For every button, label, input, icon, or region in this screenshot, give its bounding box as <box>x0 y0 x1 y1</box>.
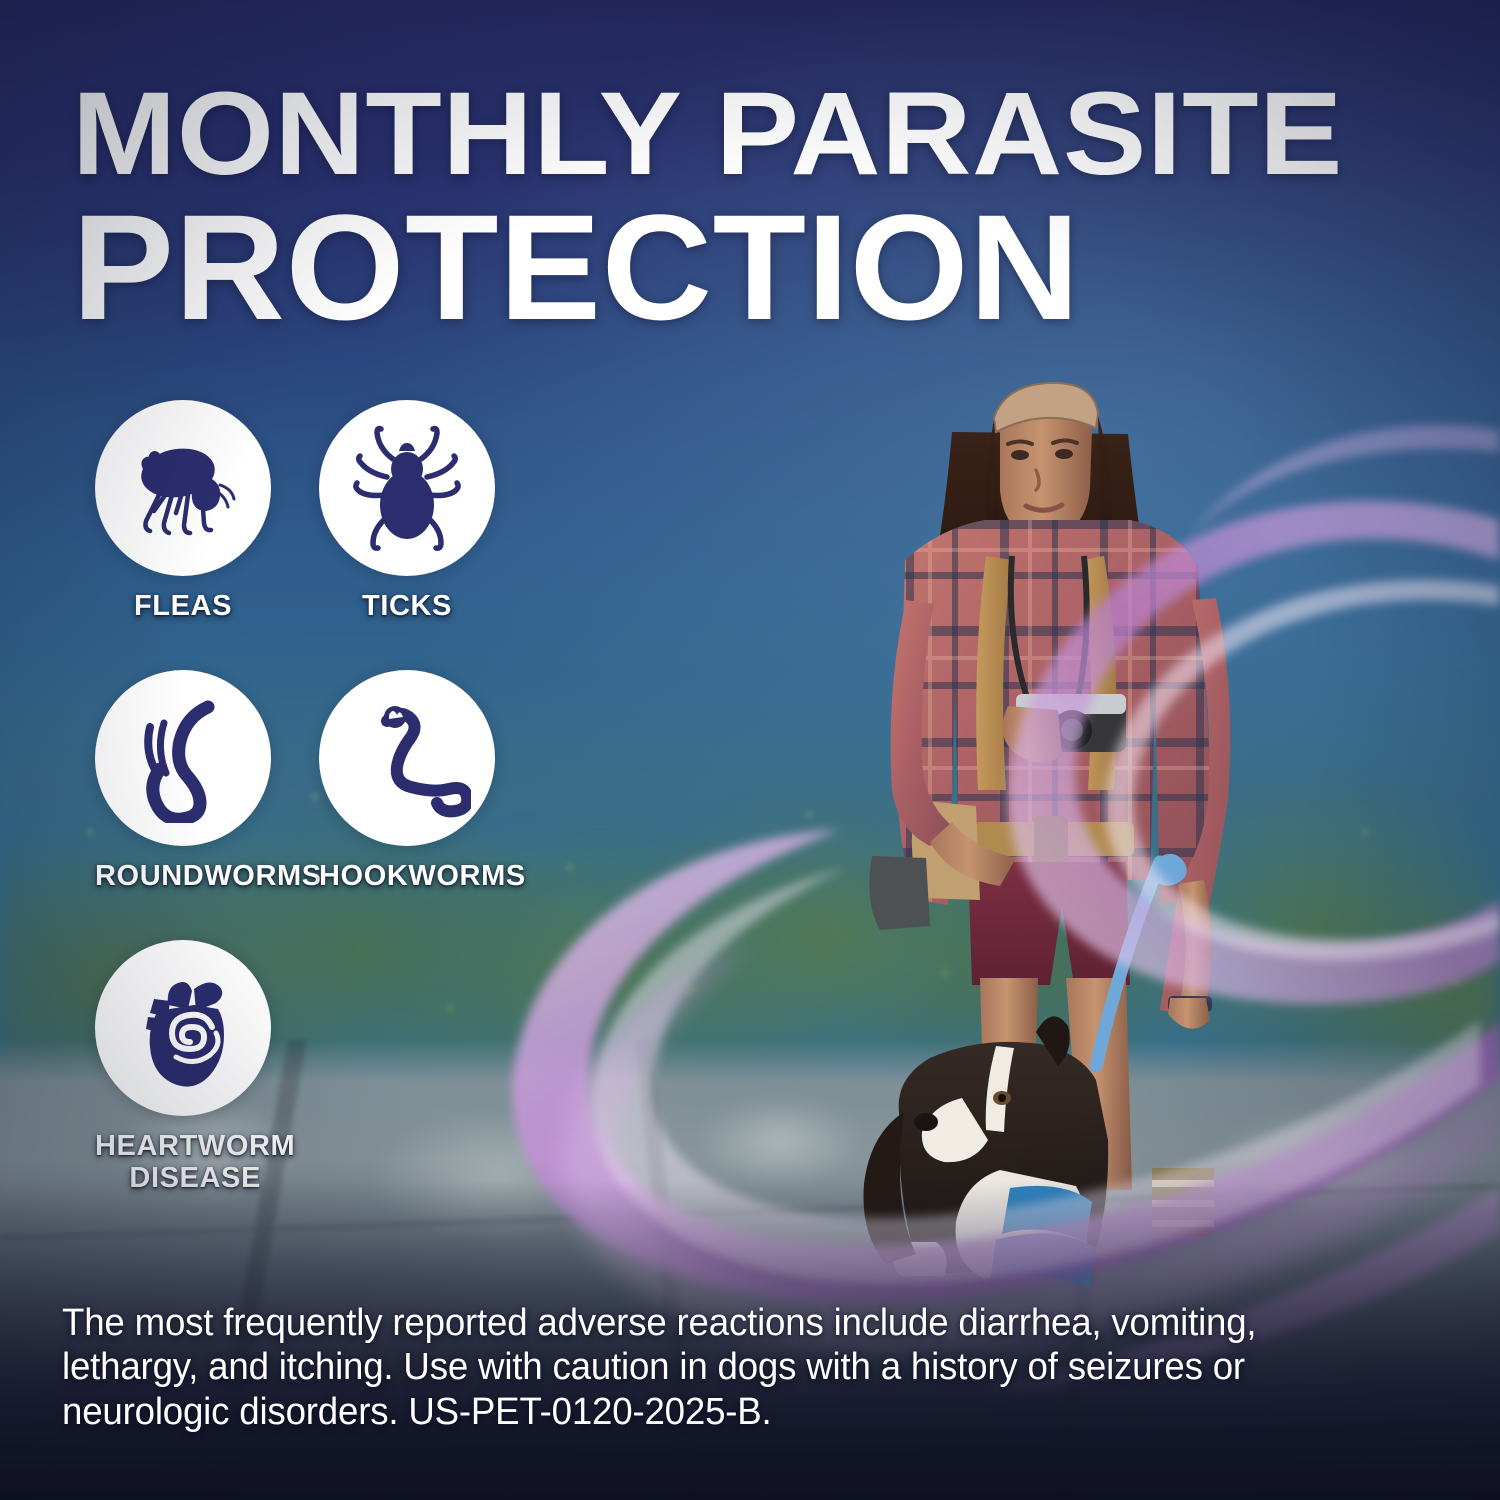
parasite-protection-ad: MONTHLY PARASITE PROTECTION <box>0 0 1500 1500</box>
disclaimer-text: The most frequently reported adverse rea… <box>62 1301 1392 1434</box>
